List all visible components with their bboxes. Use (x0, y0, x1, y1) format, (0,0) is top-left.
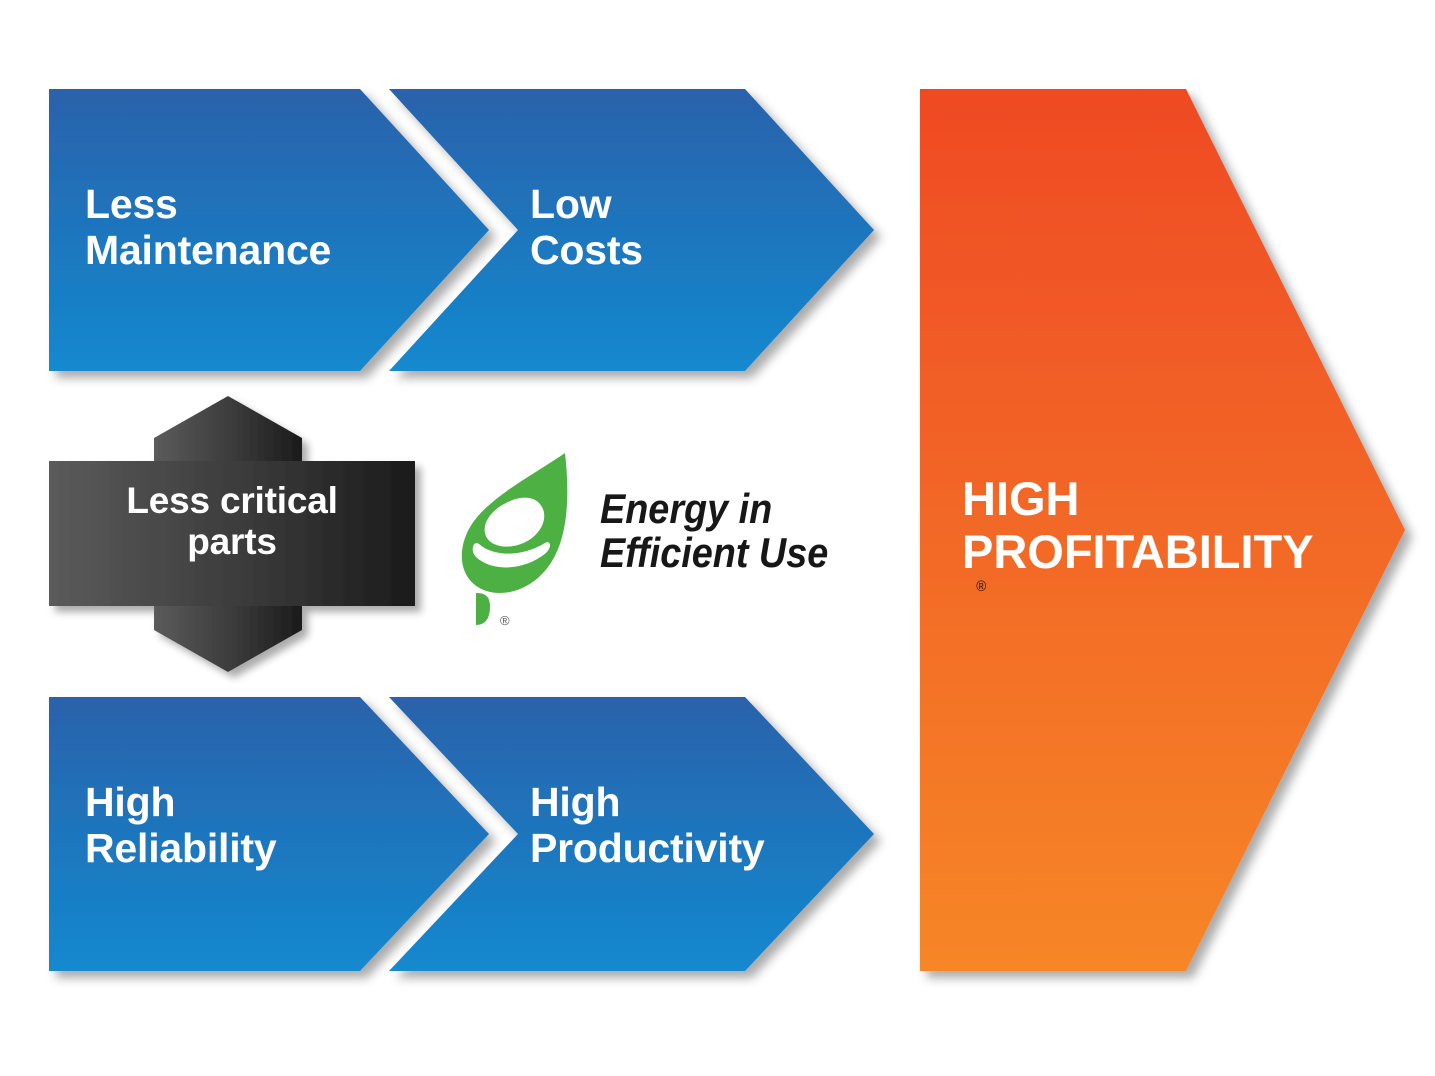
logo-line1: Energy in (600, 485, 772, 532)
badge-bar (49, 461, 415, 606)
logo-line2: Efficient Use (600, 529, 828, 576)
chevron-high-reliability[interactable] (49, 697, 489, 971)
logo-registered-mark: ® (976, 579, 986, 595)
arrow-high-profitability[interactable] (920, 89, 1405, 971)
logo-energy-in-efficient-use: ® Energy in Efficient Use® (452, 445, 892, 635)
badge-less-critical-parts[interactable] (49, 396, 415, 672)
logo-wordmark: Energy in Efficient Use® (600, 487, 828, 574)
chevron-less-maintenance[interactable] (49, 89, 489, 371)
leaf-registered-mark: ® (500, 613, 510, 628)
green-leaf-e-icon: ® (452, 445, 592, 635)
diagram-canvas: ® Energy in Efficient Use® Less Maintena… (0, 0, 1435, 1076)
